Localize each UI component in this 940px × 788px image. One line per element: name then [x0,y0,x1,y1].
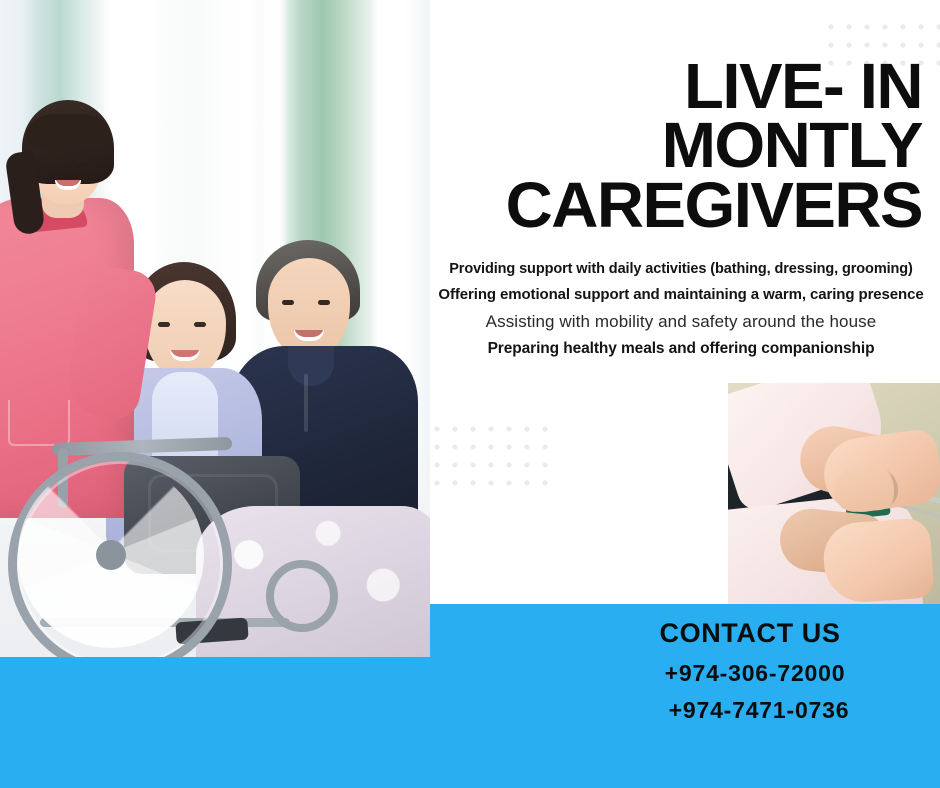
elderly-man-placket [304,374,308,432]
contact-phone-2[interactable]: +974-7471-0736 [560,692,940,729]
service-item-4: Preparing healthy meals and offering com… [430,335,932,363]
elderly-man-face [268,258,350,358]
elderly-man-left-eye [282,300,294,305]
headline-line-3: CAREGIVERS [430,176,922,236]
services-list: Providing support with daily activities … [430,256,932,363]
service-item-2: Offering emotional support and maintaini… [430,282,932,308]
nurse-right-eye [76,158,87,163]
left-photo-caregiver-with-elderly-couple [0,0,430,657]
contact-block: CONTACT US +974-306-72000 +974-7471-0736 [560,614,940,729]
service-item-3: Assisting with mobility and safety aroun… [430,308,932,335]
page-title: LIVE- IN MONTLY CAREGIVERS [440,57,922,236]
wheelchair-small-wheel [266,560,338,632]
elderly-man-right-eye [318,300,330,305]
caregiver-flyer-poster: LIVE- IN MONTLY CAREGIVERS Providing sup… [0,0,940,788]
elderly-woman-shirt [152,372,218,468]
wheelchair-hub [96,540,126,570]
elderly-woman-left-eye [158,322,170,327]
blue-banner-left [0,657,430,788]
nurse-left-eye [46,158,57,163]
contact-phone-1[interactable]: +974-306-72000 [560,655,940,692]
caregiver-fingers-upper [833,465,900,513]
caregiver-hand-lower [821,517,934,604]
elderly-woman-face [144,280,226,378]
headline-line-2: MONTLY [430,116,922,176]
nurse-fringe [26,114,110,148]
right-photo-holding-hands [728,383,940,607]
elderly-woman-right-eye [194,322,206,327]
dot-grid-middle-icon [428,420,550,490]
headline-line-1: LIVE- IN [430,57,922,117]
nurse-pocket [8,400,70,446]
contact-title: CONTACT US [560,614,940,652]
service-item-1: Providing support with daily activities … [430,256,932,282]
